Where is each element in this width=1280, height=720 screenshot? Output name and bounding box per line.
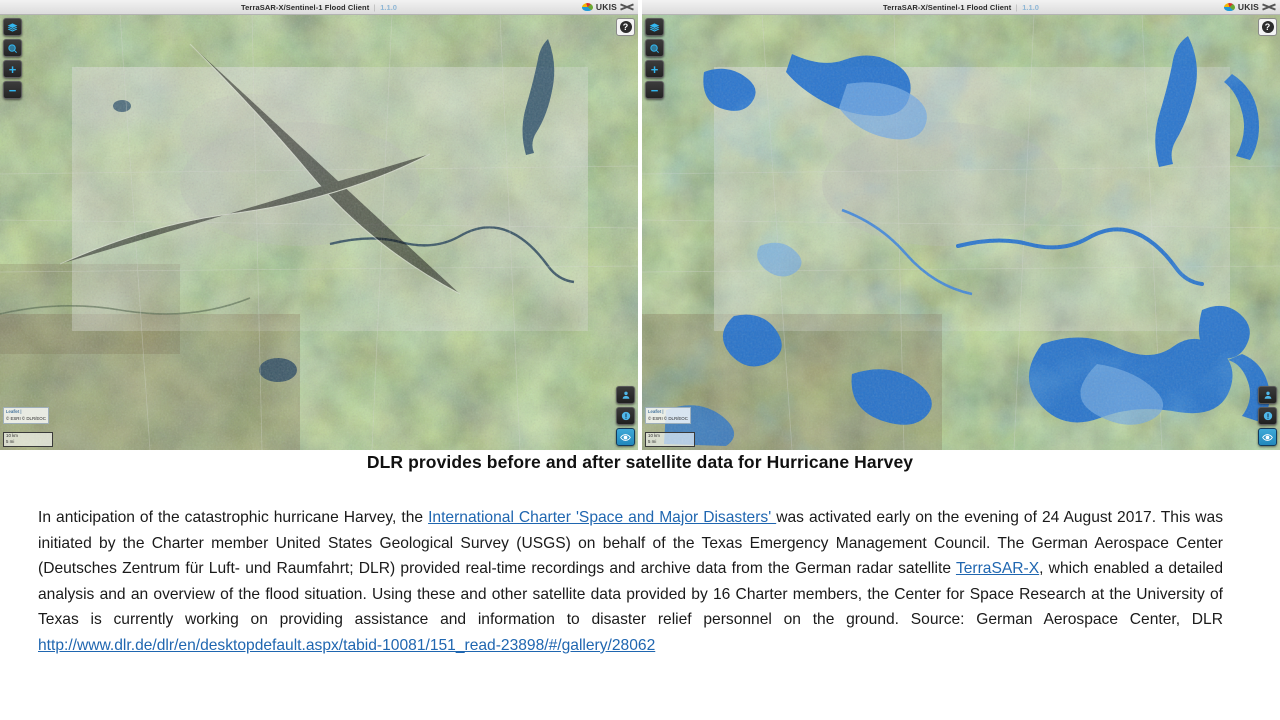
- zoom-out-icon[interactable]: −: [645, 81, 664, 99]
- map-attribution-before: Leaflet | © ESRI © DLR/EOC: [3, 407, 49, 424]
- ukis-logo-icon: [1224, 3, 1235, 11]
- search-globe-icon[interactable]: [3, 39, 22, 57]
- terrasar-x-link[interactable]: TerraSAR-X: [956, 560, 1039, 577]
- dlr-source-url-link[interactable]: http://www.dlr.de/dlr/en/desktopdefault.…: [38, 637, 655, 654]
- ukis-brand-text-after: UKIS: [1238, 2, 1259, 12]
- help-label-before: ?: [620, 21, 632, 33]
- layers-icon[interactable]: [645, 18, 664, 36]
- figure-caption: DLR provides before and after satellite …: [0, 452, 1280, 473]
- title-separator-after: |: [1015, 3, 1017, 12]
- dlr-logo-icon: [620, 2, 634, 12]
- dlr-logo-icon: [1262, 2, 1276, 12]
- before-satellite-imagery[interactable]: [0, 14, 638, 450]
- satellite-map-comparison: TerraSAR-X/Sentinel-1 Flood Client | 1.1…: [0, 0, 1280, 450]
- app-version-before: 1.1.0: [380, 3, 397, 12]
- before-flood-map-panel[interactable]: TerraSAR-X/Sentinel-1 Flood Client | 1.1…: [0, 0, 638, 450]
- map-controls-after[interactable]: + −: [645, 18, 664, 99]
- ukis-brand-before: UKIS: [582, 1, 634, 13]
- app-title-after: TerraSAR-X/Sentinel-1 Flood Client: [883, 3, 1011, 12]
- map-side-tools-before[interactable]: [616, 386, 635, 446]
- after-flood-map-panel[interactable]: TerraSAR-X/Sentinel-1 Flood Client | 1.1…: [642, 0, 1280, 450]
- after-satellite-imagery-with-flood-overlay[interactable]: [642, 14, 1280, 450]
- zoom-in-label: +: [651, 63, 659, 76]
- map-attribution-after: Leaflet | © ESRI © DLR/EOC: [645, 407, 691, 424]
- info-icon-before[interactable]: [616, 407, 635, 425]
- article-text-part-1: In anticipation of the catastrophic hurr…: [38, 509, 428, 526]
- zoom-out-icon[interactable]: −: [3, 81, 22, 99]
- app-title-before: TerraSAR-X/Sentinel-1 Flood Client: [241, 3, 369, 12]
- scale-imperial-after: 5 mi: [645, 439, 695, 447]
- info-icon-after[interactable]: [1258, 407, 1277, 425]
- zoom-in-label: +: [9, 63, 17, 76]
- help-icon-after[interactable]: ?: [1258, 18, 1277, 36]
- ukis-brand-after: UKIS: [1224, 1, 1276, 13]
- user-icon-before[interactable]: [616, 386, 635, 404]
- data-credit-after: © ESRI © DLR/EOC: [648, 416, 688, 422]
- zoom-in-icon[interactable]: +: [3, 60, 22, 78]
- visibility-eye-icon-after[interactable]: [1258, 428, 1277, 446]
- zoom-in-icon[interactable]: +: [645, 60, 664, 78]
- international-charter-link[interactable]: International Charter 'Space and Major D…: [428, 509, 776, 526]
- visibility-eye-icon-before[interactable]: [616, 428, 635, 446]
- scale-imperial-before: 5 mi: [3, 439, 53, 447]
- data-credit-before: © ESRI © DLR/EOC: [6, 416, 46, 422]
- map-scalebar-after: 10 km 5 mi: [645, 432, 695, 447]
- ukis-brand-text-before: UKIS: [596, 2, 617, 12]
- zoom-out-label: −: [9, 84, 17, 97]
- map-side-tools-after[interactable]: [1258, 386, 1277, 446]
- article-body: In anticipation of the catastrophic hurr…: [38, 505, 1223, 659]
- user-icon-after[interactable]: [1258, 386, 1277, 404]
- title-separator-before: |: [373, 3, 375, 12]
- layers-icon[interactable]: [3, 18, 22, 36]
- help-icon-before[interactable]: ?: [616, 18, 635, 36]
- map-scalebar-before: 10 km 5 mi: [3, 432, 53, 447]
- search-globe-icon[interactable]: [645, 39, 664, 57]
- map-controls-before[interactable]: + −: [3, 18, 22, 99]
- map-title-bar-before: TerraSAR-X/Sentinel-1 Flood Client | 1.1…: [0, 0, 638, 15]
- scale-metric-after: 10 km: [645, 432, 695, 440]
- ukis-logo-icon: [582, 3, 593, 11]
- help-label-after: ?: [1262, 21, 1274, 33]
- scale-metric-before: 10 km: [3, 432, 53, 440]
- zoom-out-label: −: [651, 84, 659, 97]
- app-version-after: 1.1.0: [1022, 3, 1039, 12]
- map-title-bar-after: TerraSAR-X/Sentinel-1 Flood Client | 1.1…: [642, 0, 1280, 15]
